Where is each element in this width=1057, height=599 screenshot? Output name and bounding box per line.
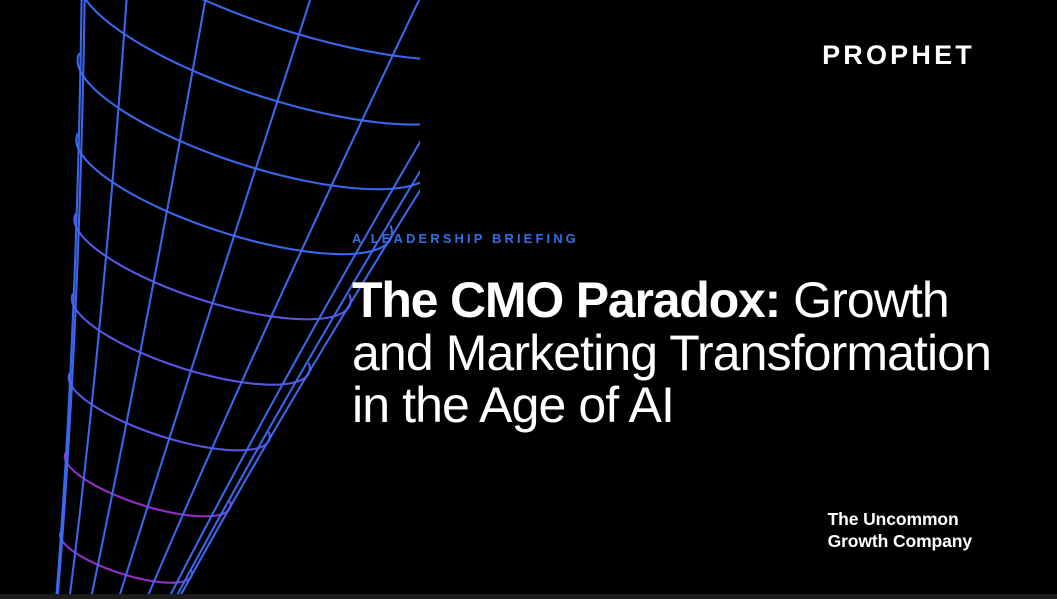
prophet-logo: PROPHET bbox=[822, 42, 975, 69]
eyebrow-label: A LEADERSHIP BRIEFING bbox=[352, 232, 1012, 245]
title-slide: PROPHET A LEADERSHIP BRIEFING The CMO Pa… bbox=[0, 0, 1057, 599]
bottom-strip bbox=[0, 594, 1057, 599]
page-title-emphasis: The CMO Paradox: bbox=[352, 272, 780, 328]
page-title: The CMO Paradox: Growth and Marketing Tr… bbox=[352, 274, 1012, 432]
title-block: A LEADERSHIP BRIEFING The CMO Paradox: G… bbox=[352, 232, 1012, 432]
brand-tagline: The Uncommon Growth Company bbox=[828, 509, 972, 553]
